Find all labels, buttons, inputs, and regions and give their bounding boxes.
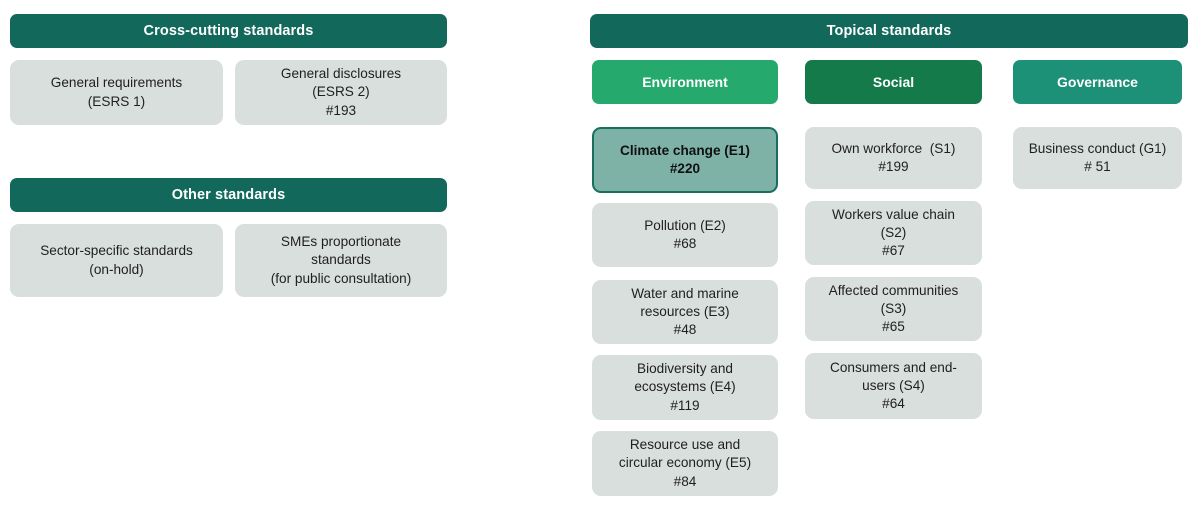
card-label: Workers value chain (S2) #67 [832,206,955,260]
card-label: Water and marine resources (E3) #48 [631,285,739,339]
card-smes-proportionate-standards[interactable]: SMEs proportionate standards (for public… [235,224,447,297]
category-header-social[interactable]: Social [805,60,982,104]
card-label: General disclosures (ESRS 2) #193 [281,65,401,119]
cross-cutting-standards-header: Cross-cutting standards [10,14,447,48]
category-header-governance[interactable]: Governance [1013,60,1182,104]
card-label: SMEs proportionate standards (for public… [271,233,412,287]
card-own-workforce-s1[interactable]: Own workforce (S1) #199 [805,127,982,189]
card-label: Resource use and circular economy (E5) #… [619,436,751,490]
card-general-disclosures-esrs2[interactable]: General disclosures (ESRS 2) #193 [235,60,447,125]
card-pollution-e2[interactable]: Pollution (E2) #68 [592,203,778,267]
other-standards-header: Other standards [10,178,447,212]
card-label: Pollution (E2) #68 [644,217,726,253]
card-label: General requirements (ESRS 1) [51,74,182,110]
card-general-requirements-esrs1[interactable]: General requirements (ESRS 1) [10,60,223,125]
card-biodiversity-and-ecosystems-e4[interactable]: Biodiversity and ecosystems (E4) #119 [592,355,778,420]
card-label: Consumers and end- users (S4) #64 [830,359,957,413]
card-label: Biodiversity and ecosystems (E4) #119 [634,360,735,414]
card-label: Affected communities (S3) #65 [829,282,959,336]
topical-standards-header: Topical standards [590,14,1188,48]
card-affected-communities-s3[interactable]: Affected communities (S3) #65 [805,277,982,341]
card-label: Climate change (E1) #220 [620,142,750,178]
card-business-conduct-g1[interactable]: Business conduct (G1) # 51 [1013,127,1182,189]
card-climate-change-e1[interactable]: Climate change (E1) #220 [592,127,778,193]
category-header-environment[interactable]: Environment [592,60,778,104]
card-label: Own workforce (S1) #199 [832,140,956,176]
card-sector-specific-standards[interactable]: Sector-specific standards (on-hold) [10,224,223,297]
card-water-and-marine-resources-e3[interactable]: Water and marine resources (E3) #48 [592,280,778,344]
card-workers-value-chain-s2[interactable]: Workers value chain (S2) #67 [805,201,982,265]
esrs-standards-diagram: Cross-cutting standards General requirem… [0,0,1200,518]
card-resource-use-and-circular-economy-e5[interactable]: Resource use and circular economy (E5) #… [592,431,778,496]
card-consumers-and-end-users-s4[interactable]: Consumers and end- users (S4) #64 [805,353,982,419]
card-label: Sector-specific standards (on-hold) [40,242,193,278]
card-label: Business conduct (G1) # 51 [1029,140,1167,176]
